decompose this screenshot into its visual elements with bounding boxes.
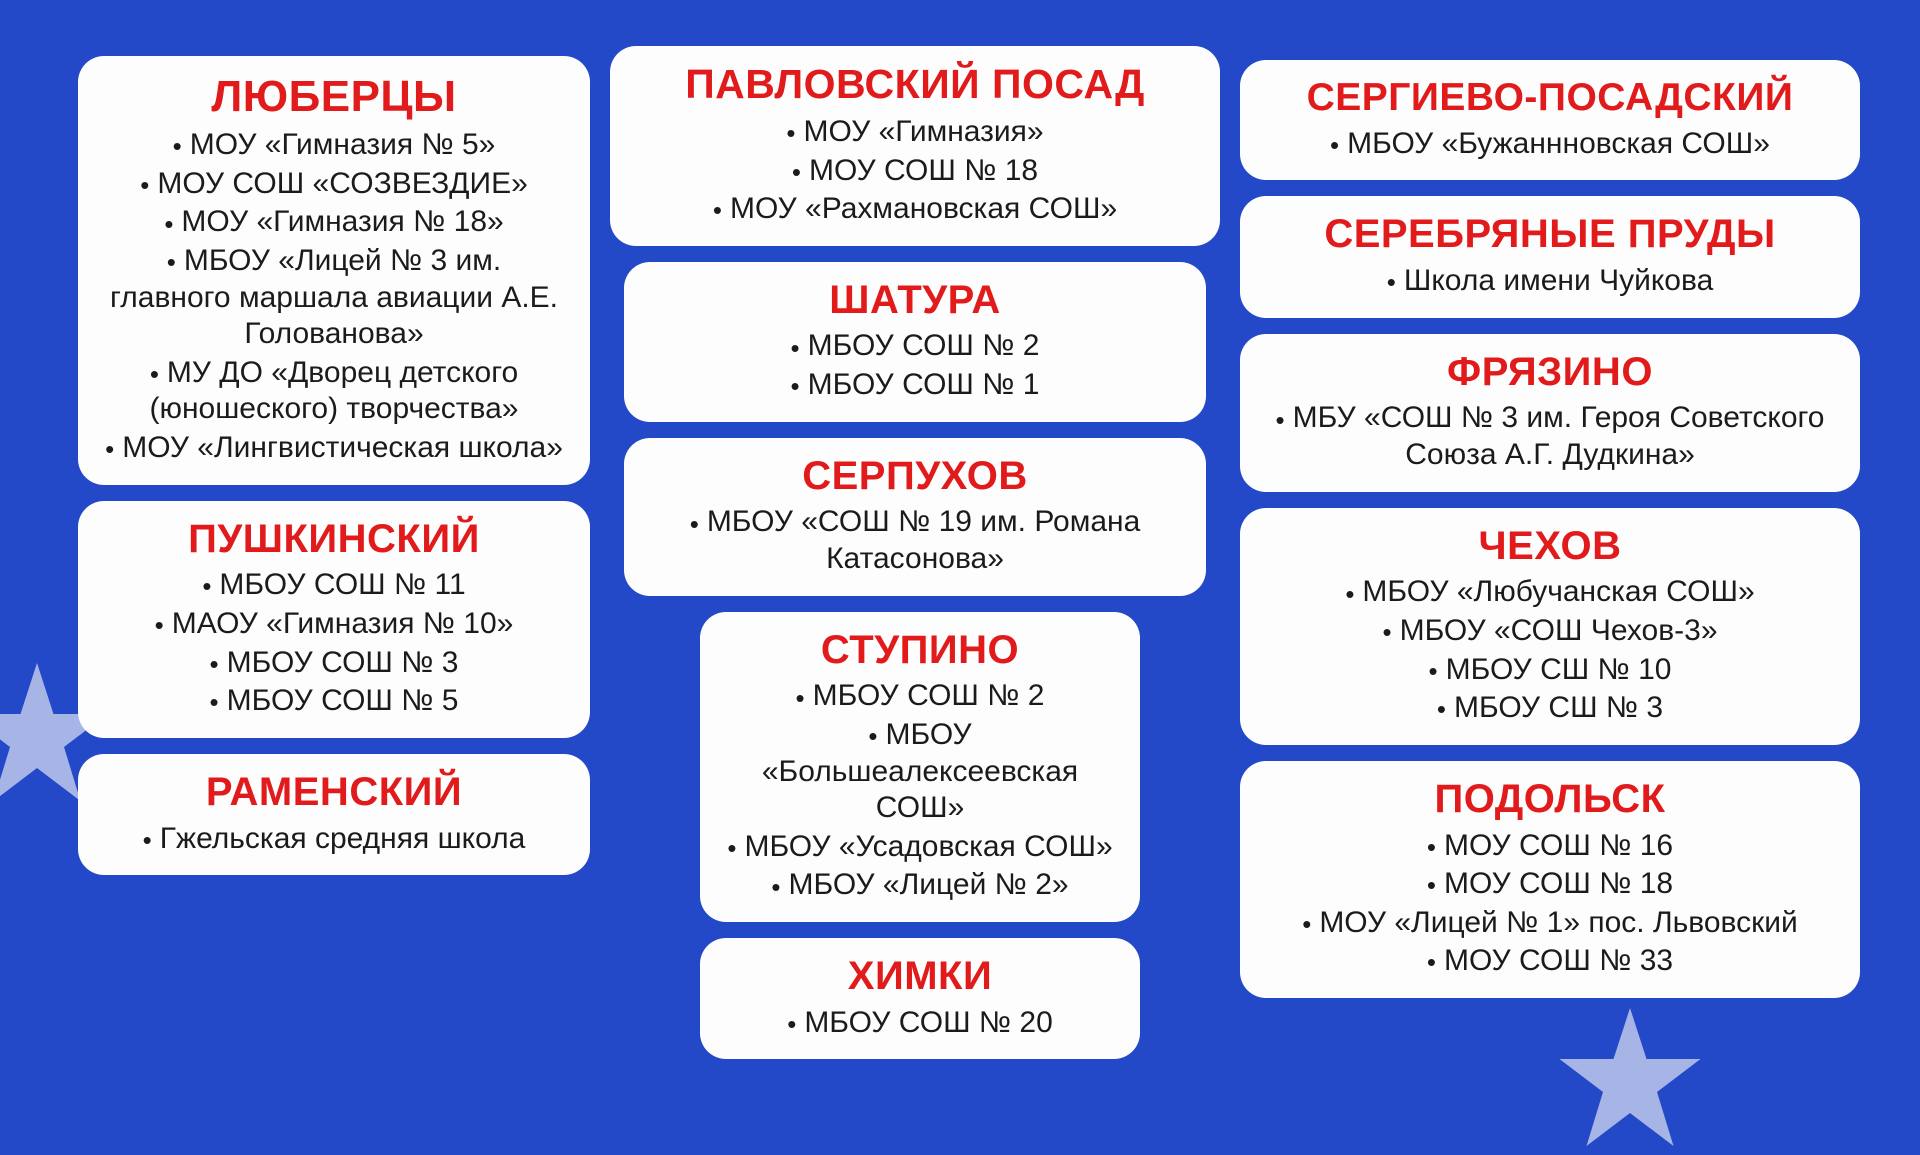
list-item-label: МУ ДО «Дворец детского (юношеского) твор… <box>149 356 518 426</box>
school-list: •Гжельская средняя школа <box>100 821 568 860</box>
list-item-label: МБОУ СОШ № 1 <box>808 368 1040 401</box>
list-item: •МОУ СОШ «СОЗВЕЗДИЕ» <box>100 166 568 205</box>
list-item: •МОУ СОШ № 16 <box>1262 828 1838 867</box>
bullet-icon: • <box>727 833 736 863</box>
bullet-icon: • <box>771 872 780 902</box>
list-item-label: МБОУ «СОШ № 19 им. Романа Катасонова» <box>707 505 1140 575</box>
list-item-label: МБОУ СШ № 10 <box>1446 653 1672 686</box>
bullet-icon: • <box>791 333 800 363</box>
list-item-label: МБОУ «Лицей № 3 им. главного маршала ави… <box>110 244 558 350</box>
list-item-label: Школа имени Чуйкова <box>1404 264 1713 297</box>
bullet-icon: • <box>786 118 795 148</box>
school-list: •МБОУ СОШ № 2 •МБОУ «Большеалексеевская … <box>722 678 1118 906</box>
bullet-icon: • <box>796 683 805 713</box>
card-chehov: ЧЕХОВ •МБОУ «Любучанская СОШ» •МБОУ «СОШ… <box>1240 508 1860 745</box>
card-pavlovskiy-posad: ПАВЛОВСКИЙ ПОСАД •МОУ «Гимназия» •МОУ СО… <box>610 46 1220 246</box>
card-title: РАМЕНСКИЙ <box>100 770 568 815</box>
list-item: •МБОУ СОШ № 11 <box>100 567 568 606</box>
list-item: •МБОУ «Лицей № 3 им. главного маршала ав… <box>100 243 568 355</box>
list-item: •МБОУ «Усадовская СОШ» <box>722 829 1118 868</box>
list-item-label: МБОУ «Бужаннновская СОШ» <box>1347 127 1770 160</box>
list-item: •МОУ СОШ № 18 <box>1262 866 1838 905</box>
card-title: ШАТУРА <box>646 278 1184 323</box>
card-himki: ХИМКИ •МБОУ СОШ № 20 <box>700 938 1140 1059</box>
list-item-label: МБУ «СОШ № 3 им. Героя Советского Союза … <box>1293 401 1825 471</box>
bullet-icon: • <box>140 170 149 200</box>
list-item: •МОУ «Гимназия № 18» <box>100 204 568 243</box>
bullet-icon: • <box>167 247 176 277</box>
list-item-label: МОУ «Лингвистическая школа» <box>122 431 563 464</box>
list-item: •МБОУ СШ № 10 <box>1262 652 1838 691</box>
list-item: •МБОУ СОШ № 2 <box>646 328 1184 367</box>
bullet-icon: • <box>202 571 211 601</box>
card-title: ПУШКИНСКИЙ <box>100 517 568 562</box>
school-list: •МОУ «Гимназия № 5» •МОУ СОШ «СОЗВЕЗДИЕ»… <box>100 127 568 468</box>
bullet-icon: • <box>791 371 800 401</box>
list-item: •МОУ «Гимназия № 5» <box>100 127 568 166</box>
school-list: •МБОУ СОШ № 20 <box>722 1005 1118 1044</box>
list-item: •МОУ «Рахмановская СОШ» <box>632 191 1198 230</box>
bullet-icon: • <box>1429 656 1438 686</box>
list-item-label: МОУ СОШ № 18 <box>1444 867 1673 900</box>
column-left: ЛЮБЕРЦЫ •МОУ «Гимназия № 5» •МОУ СОШ «СО… <box>78 42 590 1059</box>
bullet-icon: • <box>1427 870 1436 900</box>
bullet-icon: • <box>1387 267 1396 297</box>
card-serpuhov: СЕРПУХОВ •МБОУ «СОШ № 19 им. Романа Ката… <box>624 438 1206 596</box>
bullet-icon: • <box>1302 909 1311 939</box>
bullet-icon: • <box>787 1009 796 1039</box>
bullet-icon: • <box>173 131 182 161</box>
list-item: •МБОУ «Лицей № 2» <box>722 867 1118 906</box>
card-ramenskiy: РАМЕНСКИЙ •Гжельская средняя школа <box>78 754 590 875</box>
school-list: •Школа имени Чуйкова <box>1262 263 1838 302</box>
list-item-label: МБОУ СОШ № 20 <box>804 1006 1052 1039</box>
list-item: •МБОУ СОШ № 5 <box>100 683 568 722</box>
list-item: •МБОУ СОШ № 20 <box>722 1005 1118 1044</box>
school-list: •МБОУ «Любучанская СОШ» •МБОУ «СОШ Чехов… <box>1262 574 1838 728</box>
card-pushkinskiy: ПУШКИНСКИЙ •МБОУ СОШ № 11 •МАОУ «Гимнази… <box>78 501 590 738</box>
card-sergievo-posadskiy: СЕРГИЕВО-ПОСАДСКИЙ •МБОУ «Бужаннновская … <box>1240 60 1860 180</box>
bullet-icon: • <box>164 209 173 239</box>
list-item-label: МОУ СОШ № 18 <box>809 154 1038 187</box>
bullet-icon: • <box>210 687 219 717</box>
list-item: •МБУ «СОШ № 3 им. Героя Советского Союза… <box>1262 400 1838 475</box>
bullet-icon: • <box>1382 617 1391 647</box>
list-item: •МУ ДО «Дворец детского (юношеского) тво… <box>100 355 568 430</box>
list-item: •МБОУ СОШ № 2 <box>722 678 1118 717</box>
card-title: ХИМКИ <box>722 954 1118 999</box>
card-title: СТУПИНО <box>722 628 1118 673</box>
school-list: •МБОУ СОШ № 11 •МАОУ «Гимназия № 10» •МБ… <box>100 567 568 721</box>
bullet-icon: • <box>868 721 877 751</box>
list-item: •МОУ «Лицей № 1» пос. Львовский <box>1262 905 1838 944</box>
card-shatura: ШАТУРА •МБОУ СОШ № 2 •МБОУ СОШ № 1 <box>624 262 1206 422</box>
bullet-icon: • <box>150 359 159 389</box>
list-item-label: МОУ «Гимназия № 5» <box>190 128 496 161</box>
list-item: •МОУ «Лингвистическая школа» <box>100 430 568 469</box>
list-item-label: МОУ «Рахмановская СОШ» <box>730 192 1117 225</box>
card-title: СЕРЕБРЯНЫЕ ПРУДЫ <box>1262 212 1838 257</box>
list-item: •МБОУ «Большеалексеевская СОШ» <box>722 717 1118 829</box>
school-list: •МБОУ «СОШ № 19 им. Романа Катасонова» <box>646 504 1184 579</box>
bullet-icon: • <box>690 509 699 539</box>
bullet-icon: • <box>1427 832 1436 862</box>
list-item-label: МБОУ СОШ № 2 <box>808 329 1040 362</box>
bullet-icon: • <box>155 610 164 640</box>
list-item-label: МБОУ СОШ № 2 <box>813 679 1045 712</box>
bullet-icon: • <box>1345 579 1354 609</box>
list-item: •МОУ СОШ № 18 <box>632 153 1198 192</box>
districts-board: ЛЮБЕРЦЫ •МОУ «Гимназия № 5» •МОУ СОШ «СО… <box>0 0 1920 1080</box>
list-item-label: Гжельская средняя школа <box>160 822 526 855</box>
list-item-label: МБОУ СОШ № 11 <box>219 568 465 601</box>
card-title: ФРЯЗИНО <box>1262 350 1838 395</box>
bullet-icon: • <box>792 157 801 187</box>
bullet-icon: • <box>1427 947 1436 977</box>
list-item: •МОУ СОШ № 33 <box>1262 943 1838 982</box>
bullet-icon: • <box>713 195 722 225</box>
list-item: •МАОУ «Гимназия № 10» <box>100 606 568 645</box>
bullet-icon: • <box>143 825 152 855</box>
card-stupino: СТУПИНО •МБОУ СОШ № 2 •МБОУ «Большеалекс… <box>700 612 1140 922</box>
list-item-label: МАОУ «Гимназия № 10» <box>172 607 514 640</box>
list-item: •МБОУ «Любучанская СОШ» <box>1262 574 1838 613</box>
list-item-label: МБОУ СШ № 3 <box>1454 691 1663 724</box>
list-item-label: МБОУ «Лицей № 2» <box>789 868 1069 901</box>
card-podolsk: ПОДОЛЬСК •МОУ СОШ № 16 •МОУ СОШ № 18 •МО… <box>1240 761 1860 998</box>
list-item-label: МБОУ СОШ № 5 <box>227 684 459 717</box>
list-item: •МБОУ СОШ № 1 <box>646 367 1184 406</box>
card-lyubertsy: ЛЮБЕРЦЫ •МОУ «Гимназия № 5» •МОУ СОШ «СО… <box>78 56 590 485</box>
bullet-icon: • <box>1437 694 1446 724</box>
school-list: •МБУ «СОШ № 3 им. Героя Советского Союза… <box>1262 400 1838 475</box>
card-title: СЕРГИЕВО-ПОСАДСКИЙ <box>1262 76 1838 120</box>
bullet-icon: • <box>1330 130 1339 160</box>
school-list: •МБОУ СОШ № 2 •МБОУ СОШ № 1 <box>646 328 1184 405</box>
list-item: •Гжельская средняя школа <box>100 821 568 860</box>
card-title: ПОДОЛЬСК <box>1262 777 1838 822</box>
list-item-label: МОУ СОШ «СОЗВЕЗДИЕ» <box>157 167 527 200</box>
card-title: ПАВЛОВСКИЙ ПОСАД <box>632 62 1198 108</box>
bullet-icon: • <box>105 434 114 464</box>
list-item-label: МБОУ «Любучанская СОШ» <box>1362 575 1754 608</box>
list-item: •МБОУ «СОШ № 19 им. Романа Катасонова» <box>646 504 1184 579</box>
list-item-label: МБОУ «Усадовская СОШ» <box>744 830 1112 863</box>
list-item: •МБОУ СШ № 3 <box>1262 690 1838 729</box>
list-item-label: МБОУ «Большеалексеевская СОШ» <box>762 718 1078 824</box>
list-item: •МБОУ СОШ № 3 <box>100 645 568 684</box>
list-item-label: МОУ «Лицей № 1» пос. Львовский <box>1319 906 1797 939</box>
list-item-label: МОУ «Гимназия» <box>804 115 1044 148</box>
school-list: •МБОУ «Бужаннновская СОШ» <box>1262 126 1838 165</box>
list-item: •МБОУ «Бужаннновская СОШ» <box>1262 126 1838 165</box>
list-item: •Школа имени Чуйкова <box>1262 263 1838 302</box>
card-title: ЛЮБЕРЦЫ <box>100 72 568 121</box>
list-item-label: МБОУ СОШ № 3 <box>227 646 459 679</box>
school-list: •МОУ «Гимназия» •МОУ СОШ № 18 •МОУ «Рахм… <box>632 114 1198 230</box>
bullet-icon: • <box>210 649 219 679</box>
school-list: •МОУ СОШ № 16 •МОУ СОШ № 18 •МОУ «Лицей … <box>1262 828 1838 982</box>
list-item-label: МБОУ «СОШ Чехов-3» <box>1400 614 1718 647</box>
card-title: СЕРПУХОВ <box>646 454 1184 499</box>
list-item: •МОУ «Гимназия» <box>632 114 1198 153</box>
bullet-icon: • <box>1276 405 1285 435</box>
list-item-label: МОУ СОШ № 33 <box>1444 944 1673 977</box>
list-item: •МБОУ «СОШ Чехов-3» <box>1262 613 1838 652</box>
column-middle: ПАВЛОВСКИЙ ПОСАД •МОУ «Гимназия» •МОУ СО… <box>610 42 1220 1059</box>
list-item-label: МОУ СОШ № 16 <box>1444 829 1673 862</box>
column-right: СЕРГИЕВО-ПОСАДСКИЙ •МБОУ «Бужаннновская … <box>1240 42 1860 1059</box>
card-serebryanye-prudy: СЕРЕБРЯНЫЕ ПРУДЫ •Школа имени Чуйкова <box>1240 196 1860 317</box>
list-item-label: МОУ «Гимназия № 18» <box>181 205 503 238</box>
card-fryazino: ФРЯЗИНО •МБУ «СОШ № 3 им. Героя Советско… <box>1240 334 1860 492</box>
card-title: ЧЕХОВ <box>1262 524 1838 569</box>
